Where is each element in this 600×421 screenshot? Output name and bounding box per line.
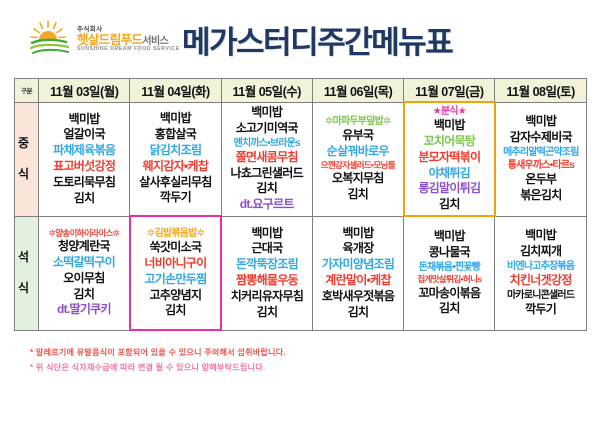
dish-item: 백미밥 (251, 226, 282, 242)
row-label-dinner: 석식 (15, 216, 39, 330)
dish-item: 짬뽕해물우동 (236, 273, 298, 289)
column-header-day-5: 11월 08일(토) (495, 79, 586, 103)
dish-item: 김치 (348, 305, 369, 321)
dish-item: 비엔나고추장볶음 (507, 260, 574, 273)
dish-item: 감자수제비국 (510, 130, 572, 146)
footnote-change: * 위 식단은 식자재수급에 따라 변경 될 수 있으니 양해부탁드립니다. (30, 360, 600, 375)
dish-list: 백미밥콩나물국돈채볶음•찐꽃빵집게맛살튀김•허니s꼬마송이볶음김치 (404, 229, 494, 317)
dish-list: 백미밥감자수제비국메추리알떡곤약조림통새우까스•타르s온두부볶은김치 (496, 114, 586, 204)
dish-item: 얼갈이국 (63, 127, 104, 143)
dish-item: 오복지무침 (332, 171, 384, 187)
dish-item: dt.요구르트 (240, 197, 294, 213)
row-label-char: 중 (15, 128, 38, 159)
dish-item: 야채튀김 (429, 166, 470, 182)
dish-item: 백미밥 (69, 112, 100, 128)
dish-item: 김치 (74, 287, 95, 303)
dish-item: 육개장 (343, 241, 374, 257)
logo-brand-ko-primary: 햇살드림푸드 (77, 33, 142, 47)
table-head: 구분 11월 03일(월) 11월 04일(화) 11월 05일(수) 11월 … (15, 79, 587, 103)
dish-item: 온두부 (525, 172, 556, 188)
dish-item: 깍두기 (525, 302, 556, 318)
dish-list: ✲양송이하이라이스✲청양계란국소떡갈떡구이오이무침김치dt.딸기쿠키 (39, 228, 129, 318)
dish-item: 김치 (257, 305, 278, 321)
dish-item: 고추양념지 (150, 288, 202, 304)
dish-item: ✲마파두부덮밥✲ (325, 115, 391, 128)
dish-item: 김치 (256, 181, 277, 197)
dish-list: 백미밥홍합살국닭김치조림웨지감자•케찹살사후실리무침깍두기 (130, 111, 220, 206)
logo-wordmark: 주식회사 햇살드림푸드서비스 SUNSHINE DREAM FOOD SERVI… (77, 25, 180, 53)
dish-item: ★분식★ (433, 105, 466, 118)
row-label-char: 석 (15, 242, 38, 273)
dish-item: 파채제육볶음 (53, 143, 115, 159)
dish-item: 근대국 (251, 241, 282, 257)
dish-item: 꼬치어묵탕 (423, 134, 475, 150)
dish-item: 백미밥 (343, 226, 374, 242)
dish-item: 도토리묵무침 (53, 175, 115, 191)
dish-item: 백미밥 (434, 229, 465, 245)
dish-item: 호박새우젓볶음 (322, 289, 394, 305)
menu-cell-dinner-1[interactable]: ✲김밥볶음밥✲쑥갓미소국너비아니구이고기손만두찜고추양념지김치 (130, 216, 221, 330)
dish-item: 홍합살국 (155, 127, 196, 143)
dish-item: 볶은김치 (520, 188, 561, 204)
header-row: 구분 11월 03일(월) 11월 04일(화) 11월 05일(수) 11월 … (15, 79, 587, 103)
dish-item: 백미밥 (160, 111, 191, 127)
footnote-allergy: * 알레르기에 유발음식이 포함되어 있을 수 있으니 주의해서 섭취바랍니다. (30, 345, 600, 360)
dish-item: 청양계란국 (58, 239, 110, 255)
dish-list: ✲김밥볶음밥✲쑥갓미소국너비아니구이고기손만두찜고추양념지김치 (131, 227, 220, 319)
dish-item: 고기손만두찜 (144, 272, 206, 288)
dish-item: 너비아니구이 (144, 256, 206, 272)
dish-item: 쫄면새콤무침 (236, 150, 298, 166)
row-label-lunch: 중식 (15, 102, 39, 216)
dish-item: 분모자떡볶이 (418, 150, 480, 166)
logo-brand-ko: 햇살드림푸드서비스 (77, 34, 180, 48)
menu-cell-lunch-5[interactable]: 백미밥감자수제비국메추리알떡곤약조림통새우까스•타르s온두부볶은김치 (495, 102, 586, 216)
dish-item: 김치 (439, 197, 460, 213)
dish-item: 으깬감자샐러드•모닝롤 (321, 160, 395, 171)
menu-cell-dinner-2[interactable]: 백미밥근대국돈깍뚝장조림짬뽕해물우동치커리유자무침김치 (221, 216, 312, 330)
dish-list: 백미밥소고기미역국멘치까스•브라운s쫄면새콤무침나쵸그린샐러드김치dt.요구르트 (222, 105, 312, 213)
dish-item: 김치 (347, 187, 368, 203)
dish-list: ★분식★백미밥꼬치어묵탕분모자떡볶이야채튀김롱김말이튀김김치 (405, 105, 494, 213)
dish-item: ✲김밥볶음밥✲ (147, 227, 204, 240)
dish-item: 살사후실리무침 (139, 175, 211, 191)
dish-item: 소떡갈떡구이 (53, 255, 115, 271)
dish-item: 김치 (439, 301, 460, 317)
dish-item: 김치 (165, 303, 186, 319)
dish-item: 쑥갓미소국 (150, 240, 202, 256)
menu-cell-dinner-0[interactable]: ✲양송이하이라이스✲청양계란국소떡갈떡구이오이무침김치dt.딸기쿠키 (39, 216, 130, 330)
dish-item: 웨지감자•케찹 (143, 159, 209, 175)
dish-item: 집게맛살튀김•허니s (417, 274, 481, 285)
dish-item: 치킨너겟강정 (510, 273, 572, 289)
dish-item: 김치 (74, 191, 95, 207)
row-label-char: 식 (15, 159, 38, 190)
menu-cell-lunch-2[interactable]: 백미밥소고기미역국멘치까스•브라운s쫄면새콤무침나쵸그린샐러드김치dt.요구르트 (221, 102, 312, 216)
sunrise-over-field-logo-icon (28, 20, 72, 58)
dish-item: 백미밥 (525, 114, 556, 130)
dish-item: 순살꿔바로우 (327, 144, 389, 160)
row-label-char: 식 (15, 273, 38, 304)
dish-item: 깍두기 (160, 190, 191, 206)
dish-item: 백미밥 (434, 118, 465, 134)
company-logo: 주식회사 햇살드림푸드서비스 SUNSHINE DREAM FOOD SERVI… (28, 20, 168, 58)
dish-item: 메추리알떡곤약조림 (503, 146, 579, 159)
dish-item: 치커리유자무침 (231, 289, 303, 305)
logo-brand-en: SUNSHINE DREAM FOOD SERVICE (77, 47, 180, 52)
dish-list: 백미밥얼갈이국파채제육볶음표고버섯강정도토리묵무침김치 (39, 112, 129, 207)
dish-item: 닭김치조림 (150, 143, 202, 159)
dish-item: dt.딸기쿠키 (57, 302, 111, 318)
dish-list: 백미밥김치찌개비엔나고추장볶음치킨너겟강정마카로니콘샐러드깍두기 (495, 228, 585, 318)
menu-cell-dinner-5[interactable]: 백미밥김치찌개비엔나고추장볶음치킨너겟강정마카로니콘샐러드깍두기 (495, 216, 586, 330)
dish-item: 멘치까스•브라운s (234, 137, 300, 150)
menu-cell-lunch-4[interactable]: ★분식★백미밥꼬치어묵탕분모자떡볶이야채튀김롱김말이튀김김치 (404, 102, 495, 216)
menu-cell-lunch-1[interactable]: 백미밥홍합살국닭김치조림웨지감자•케찹살사후실리무침깍두기 (130, 102, 221, 216)
dish-item: 백미밥 (525, 228, 556, 244)
dish-item: 소고기미역국 (236, 121, 298, 137)
dish-item: 돈깍뚝장조림 (236, 257, 298, 273)
page-header: 주식회사 햇살드림푸드서비스 SUNSHINE DREAM FOOD SERVI… (0, 0, 600, 78)
dish-item: 오이무침 (63, 271, 104, 287)
dish-item: 꼬마송이볶음 (418, 286, 480, 302)
dish-item: 표고버섯강정 (53, 159, 115, 175)
column-header-day-2: 11월 05일(수) (221, 79, 312, 103)
page-title: 메가스터디주간메뉴표 (182, 17, 452, 62)
dish-item: 김치찌개 (520, 244, 561, 260)
dish-item: 돈채볶음•찐꽃빵 (419, 261, 481, 274)
menu-row-lunch: 중식백미밥얼갈이국파채제육볶음표고버섯강정도토리묵무침김치백미밥홍합살국닭김치조… (15, 102, 587, 216)
weekly-menu-table: 구분 11월 03일(월) 11월 04일(화) 11월 05일(수) 11월 … (14, 78, 587, 331)
column-header-day-0: 11월 03일(월) (39, 79, 130, 103)
logo-brand-ko-suffix: 서비스 (142, 36, 168, 47)
menu-cell-dinner-3[interactable]: 백미밥육개장가자미양념조림계란말이•케찹호박새우젓볶음김치 (312, 216, 403, 330)
dish-item: 마카로니콘샐러드 (507, 289, 574, 302)
footnotes: * 알레르기에 유발음식이 포함되어 있을 수 있으니 주의해서 섭취바랍니다.… (0, 331, 600, 375)
dish-item: 롱김말이튀김 (418, 181, 480, 197)
column-header-day-1: 11월 04일(화) (130, 79, 221, 103)
menu-table-wrap: 구분 11월 03일(월) 11월 04일(화) 11월 05일(수) 11월 … (0, 78, 600, 331)
dish-item: 계란말이•케찹 (325, 273, 391, 289)
menu-cell-dinner-4[interactable]: 백미밥콩나물국돈채볶음•찐꽃빵집게맛살튀김•허니s꼬마송이볶음김치 (404, 216, 495, 330)
dish-item: 통새우까스•타르s (508, 159, 574, 172)
dish-item: ✲양송이하이라이스✲ (49, 228, 120, 239)
column-header-day-3: 11월 06일(목) (312, 79, 403, 103)
table-body: 중식백미밥얼갈이국파채제육볶음표고버섯강정도토리묵무침김치백미밥홍합살국닭김치조… (15, 102, 587, 330)
dish-list: ✲마파두부덮밥✲유부국순살꿔바로우으깬감자샐러드•모닝롤오복지무침김치 (313, 115, 403, 203)
menu-cell-lunch-3[interactable]: ✲마파두부덮밥✲유부국순살꿔바로우으깬감자샐러드•모닝롤오복지무침김치 (312, 102, 403, 216)
dish-item: 나쵸그린샐러드 (231, 166, 303, 182)
dish-item: 가자미양념조림 (322, 257, 394, 273)
dish-item: 유부국 (342, 128, 373, 144)
dish-item: 백미밥 (251, 105, 282, 121)
dish-item: 콩나물국 (429, 245, 470, 261)
menu-cell-lunch-0[interactable]: 백미밥얼갈이국파채제육볶음표고버섯강정도토리묵무침김치 (39, 102, 130, 216)
column-header-day-4: 11월 07일(금) (404, 79, 495, 103)
dish-list: 백미밥육개장가자미양념조림계란말이•케찹호박새우젓볶음김치 (313, 226, 403, 321)
menu-row-dinner: 석식✲양송이하이라이스✲청양계란국소떡갈떡구이오이무침김치dt.딸기쿠키✲김밥볶… (15, 216, 587, 330)
dish-list: 백미밥근대국돈깍뚝장조림짬뽕해물우동치커리유자무침김치 (222, 226, 312, 321)
column-header-label: 구분 (15, 79, 39, 103)
